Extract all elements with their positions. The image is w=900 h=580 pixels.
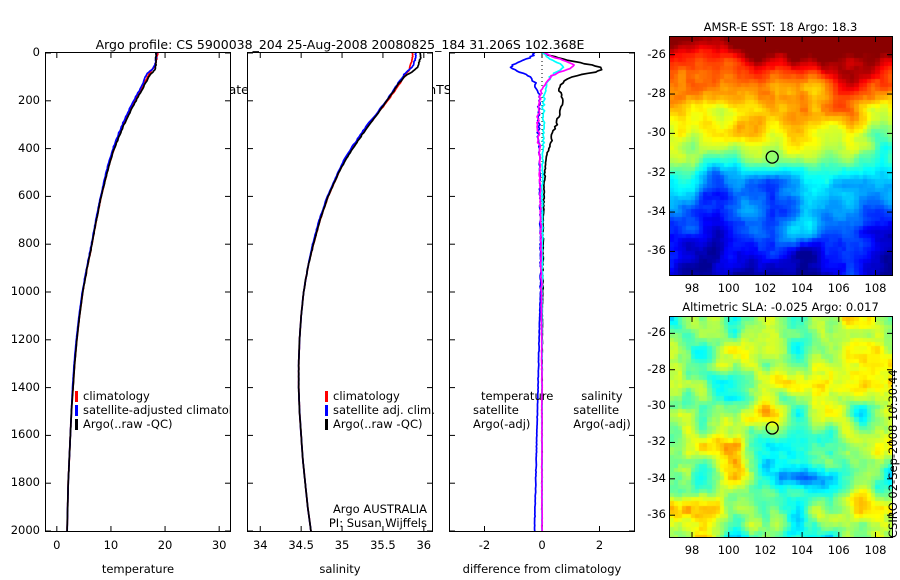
temperature-axis-label: temperature <box>45 562 231 576</box>
legend-item: satellite-adjusted climatology <box>75 403 231 417</box>
temperature-profile-plot <box>46 53 230 531</box>
legend-item: Argo(..raw -QC) <box>325 417 435 431</box>
legend-color-swatch <box>75 419 78 430</box>
difference-panel[interactable] <box>449 52 635 532</box>
sst-map-title: AMSR-E SST: 18 Argo: 18.3 <box>668 20 893 34</box>
depth-tick-6: 1200 <box>6 332 40 346</box>
legend-column-header: salinity <box>573 389 630 403</box>
depth-tick-7: 1400 <box>6 380 40 394</box>
legend-item: satellite <box>473 403 553 417</box>
depth-tick-9: 1800 <box>6 475 40 489</box>
salinity-tick-1: 34.5 <box>279 538 323 552</box>
sst-lat-tick-0: -26 <box>634 47 666 61</box>
salinity-tick-3: 35.5 <box>361 538 405 552</box>
depth-tick-8: 1600 <box>6 427 40 441</box>
sla-lat-tick-4: -34 <box>634 471 666 485</box>
credit-org: Argo AUSTRALIA <box>253 502 427 516</box>
sst-map-panel[interactable] <box>669 36 893 276</box>
csiro-timestamp: CSIRO 02-Sep-2008 10:30:44 <box>886 369 900 538</box>
depth-tick-5: 1000 <box>6 284 40 298</box>
depth-tick-1: 200 <box>6 93 40 107</box>
difference-legend: temperaturesatelliteArgo(-adj)salinitysa… <box>473 389 631 431</box>
salinity-tick-4: 36 <box>402 538 446 552</box>
salinity-tick-2: 35 <box>320 538 364 552</box>
sst-lon-tick-0: 98 <box>676 281 708 295</box>
sla-lat-tick-2: -30 <box>634 398 666 412</box>
sla-map-panel[interactable] <box>669 316 893 538</box>
temperature-tick-2: 20 <box>145 538 185 552</box>
difference-axis-label: difference from climatology <box>449 562 635 576</box>
sla-lat-tick-0: -26 <box>634 325 666 339</box>
legend-label: Argo(..raw -QC) <box>333 417 423 431</box>
sla-lat-tick-1: -28 <box>634 362 666 376</box>
legend-label: climatology <box>333 389 400 403</box>
sla-lat-tick-5: -36 <box>634 507 666 521</box>
legend-label: Argo(..raw -QC) <box>83 417 173 431</box>
difference-tick-0: -2 <box>465 538 505 552</box>
difference-tick-2: 2 <box>580 538 620 552</box>
sst-lon-tick-5: 108 <box>859 281 891 295</box>
legend-item: climatology <box>75 389 231 403</box>
sst-lon-tick-4: 106 <box>823 281 855 295</box>
sla-lon-tick-5: 108 <box>859 543 891 557</box>
depth-tick-3: 600 <box>6 188 40 202</box>
legend-label: satellite-adjusted climatology <box>83 403 231 417</box>
legend-label: satellite <box>573 403 619 417</box>
sst-lon-tick-3: 104 <box>786 281 818 295</box>
sst-lat-tick-5: -36 <box>634 243 666 257</box>
salinity-tick-0: 34 <box>238 538 282 552</box>
legend-item: satellite adj. clim. <box>325 403 435 417</box>
sla-lon-tick-2: 102 <box>749 543 781 557</box>
legend-column: temperaturesatelliteArgo(-adj) <box>473 389 553 431</box>
legend-label: climatology <box>83 389 150 403</box>
depth-tick-10: 2000 <box>6 523 40 537</box>
legend-label: satellite <box>473 403 519 417</box>
sla-lon-tick-1: 100 <box>713 543 745 557</box>
sst-map-marker-layer <box>670 37 892 275</box>
legend-color-swatch <box>325 405 328 416</box>
temperature-panel[interactable] <box>45 52 231 532</box>
legend-item: climatology <box>325 389 435 403</box>
salinity-legend: climatologysatellite adj. clim.Argo(..ra… <box>325 389 435 431</box>
legend-column-header: temperature <box>473 389 553 403</box>
legend-label: Argo(-adj) <box>573 417 630 431</box>
sla-map-title: Altimetric SLA: -0.025 Argo: 0.017 <box>668 300 893 314</box>
temperature-tick-1: 10 <box>91 538 131 552</box>
legend-label: Argo(-adj) <box>473 417 530 431</box>
legend-item: Argo(..raw -QC) <box>75 417 231 431</box>
sla-lon-tick-0: 98 <box>676 543 708 557</box>
legend-color-swatch <box>325 419 328 430</box>
sst-lon-tick-1: 100 <box>713 281 745 295</box>
sst-lat-tick-4: -34 <box>634 204 666 218</box>
depth-tick-0: 0 <box>6 45 40 59</box>
sst-lat-tick-1: -28 <box>634 86 666 100</box>
salinity-axis-label: salinity <box>247 562 433 576</box>
legend-color-swatch <box>75 391 78 402</box>
legend-column: salinitysatelliteArgo(-adj) <box>573 389 630 431</box>
difference-profile-plot <box>450 53 634 531</box>
depth-tick-2: 400 <box>6 141 40 155</box>
sla-map-marker-layer <box>670 317 892 537</box>
difference-tick-1: 0 <box>522 538 562 552</box>
legend-color-swatch <box>325 391 328 402</box>
argo-australia-credit: Argo AUSTRALIA PI: Susan Wijffels <box>253 502 427 530</box>
temperature-tick-3: 30 <box>199 538 239 552</box>
legend-item: Argo(-adj) <box>473 417 553 431</box>
legend-item: satellite <box>573 403 630 417</box>
sla-lon-tick-3: 104 <box>786 543 818 557</box>
sst-lat-tick-2: -30 <box>634 125 666 139</box>
sst-lat-tick-3: -32 <box>634 165 666 179</box>
salinity-profile-plot <box>248 53 432 531</box>
legend-label: satellite adj. clim. <box>333 403 435 417</box>
legend-color-swatch <box>75 405 78 416</box>
sst-lon-tick-2: 102 <box>749 281 781 295</box>
sla-lat-tick-3: -32 <box>634 434 666 448</box>
credit-pi: PI: Susan Wijffels <box>253 516 427 530</box>
sla-lon-tick-4: 106 <box>823 543 855 557</box>
depth-tick-4: 800 <box>6 236 40 250</box>
temperature-tick-0: 0 <box>37 538 77 552</box>
page-title-line1: Argo profile: CS 5900038_204 25-Aug-2008… <box>30 37 650 52</box>
legend-item: Argo(-adj) <box>573 417 630 431</box>
temperature-legend: climatologysatellite-adjusted climatolog… <box>75 389 231 431</box>
salinity-panel[interactable] <box>247 52 433 532</box>
